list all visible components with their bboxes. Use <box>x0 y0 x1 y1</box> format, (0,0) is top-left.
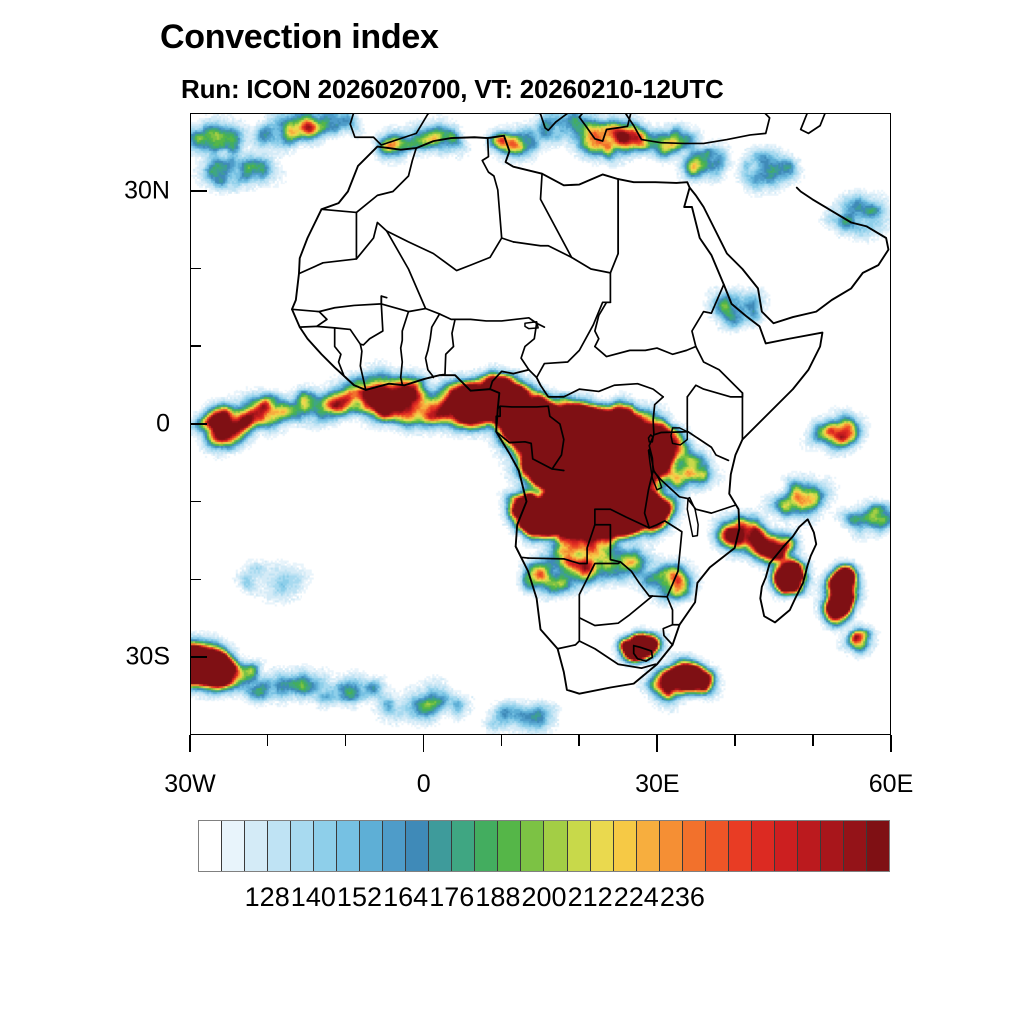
colorbar-cell-16 <box>568 821 591 871</box>
colorbar-label-188: 188 <box>475 882 520 913</box>
y-tick-0 <box>190 190 207 192</box>
x-tick-9 <box>890 735 892 752</box>
colorbar-cells <box>198 820 890 872</box>
colorbar-cell-27 <box>821 821 844 871</box>
colorbar-cell-29 <box>867 821 889 871</box>
convection-index-figure: Convection index Run: ICON 2026020700, V… <box>0 0 1024 1024</box>
colorbar-label-152: 152 <box>337 882 382 913</box>
colorbar-cell-5 <box>314 821 337 871</box>
colorbar-label-224: 224 <box>614 882 659 913</box>
y-tick-6 <box>190 656 207 658</box>
colorbar-cell-22 <box>706 821 729 871</box>
colorbar-label-140: 140 <box>291 882 336 913</box>
map-plot-area <box>190 113 891 735</box>
colorbar-label-212: 212 <box>568 882 613 913</box>
y-tick-1 <box>190 268 201 270</box>
colorbar-cell-21 <box>683 821 706 871</box>
colorbar-cell-17 <box>591 821 614 871</box>
colorbar-cell-15 <box>544 821 567 871</box>
colorbar-cell-4 <box>291 821 314 871</box>
colorbar-cell-25 <box>775 821 798 871</box>
colorbar-cell-19 <box>637 821 660 871</box>
colorbar-label-176: 176 <box>429 882 474 913</box>
x-axis-label-60E: 60E <box>869 770 913 799</box>
colorbar-cell-20 <box>660 821 683 871</box>
x-tick-8 <box>812 735 814 746</box>
y-axis-label-30N: 30N <box>80 176 170 205</box>
colorbar-cell-24 <box>752 821 775 871</box>
run-valid-time-subtitle: Run: ICON 2026020700, VT: 20260210-12UTC <box>181 74 724 105</box>
x-axis-label-30E: 30E <box>635 770 679 799</box>
colorbar-cell-11 <box>452 821 475 871</box>
x-tick-4 <box>501 735 503 746</box>
y-tick-4 <box>190 501 201 503</box>
y-axis-label-30S: 30S <box>80 643 170 672</box>
colorbar-cell-1 <box>222 821 245 871</box>
colorbar-cell-13 <box>498 821 521 871</box>
colorbar-cell-10 <box>429 821 452 871</box>
page-title: Convection index <box>160 18 439 57</box>
colorbar-cell-7 <box>360 821 383 871</box>
colorbar-label-164: 164 <box>383 882 428 913</box>
colorbar-cell-28 <box>844 821 867 871</box>
colorbar-label-200: 200 <box>521 882 566 913</box>
x-tick-1 <box>267 735 269 746</box>
y-axis-label-0: 0 <box>80 410 170 439</box>
x-tick-0 <box>189 735 191 752</box>
y-tick-3 <box>190 423 207 425</box>
colorbar-cell-3 <box>268 821 291 871</box>
x-tick-2 <box>345 735 347 746</box>
x-tick-7 <box>734 735 736 746</box>
colorbar-cell-9 <box>406 821 429 871</box>
y-tick-2 <box>190 345 201 347</box>
x-axis-label-30W: 30W <box>164 770 215 799</box>
colorbar-label-236: 236 <box>660 882 705 913</box>
x-tick-5 <box>578 735 580 746</box>
colorbar-cell-6 <box>337 821 360 871</box>
colorbar-cell-26 <box>798 821 821 871</box>
colorbar-cell-14 <box>521 821 544 871</box>
colorbar <box>198 820 890 872</box>
colorbar-label-128: 128 <box>245 882 290 913</box>
colorbar-cell-23 <box>729 821 752 871</box>
y-tick-5 <box>190 579 201 581</box>
colorbar-cell-2 <box>245 821 268 871</box>
x-axis-label-0: 0 <box>417 770 431 799</box>
x-tick-3 <box>423 735 425 752</box>
x-tick-6 <box>656 735 658 752</box>
convection-field-raster <box>191 114 890 734</box>
colorbar-cell-8 <box>383 821 406 871</box>
colorbar-cell-12 <box>475 821 498 871</box>
colorbar-cell-0 <box>199 821 222 871</box>
colorbar-cell-18 <box>614 821 637 871</box>
